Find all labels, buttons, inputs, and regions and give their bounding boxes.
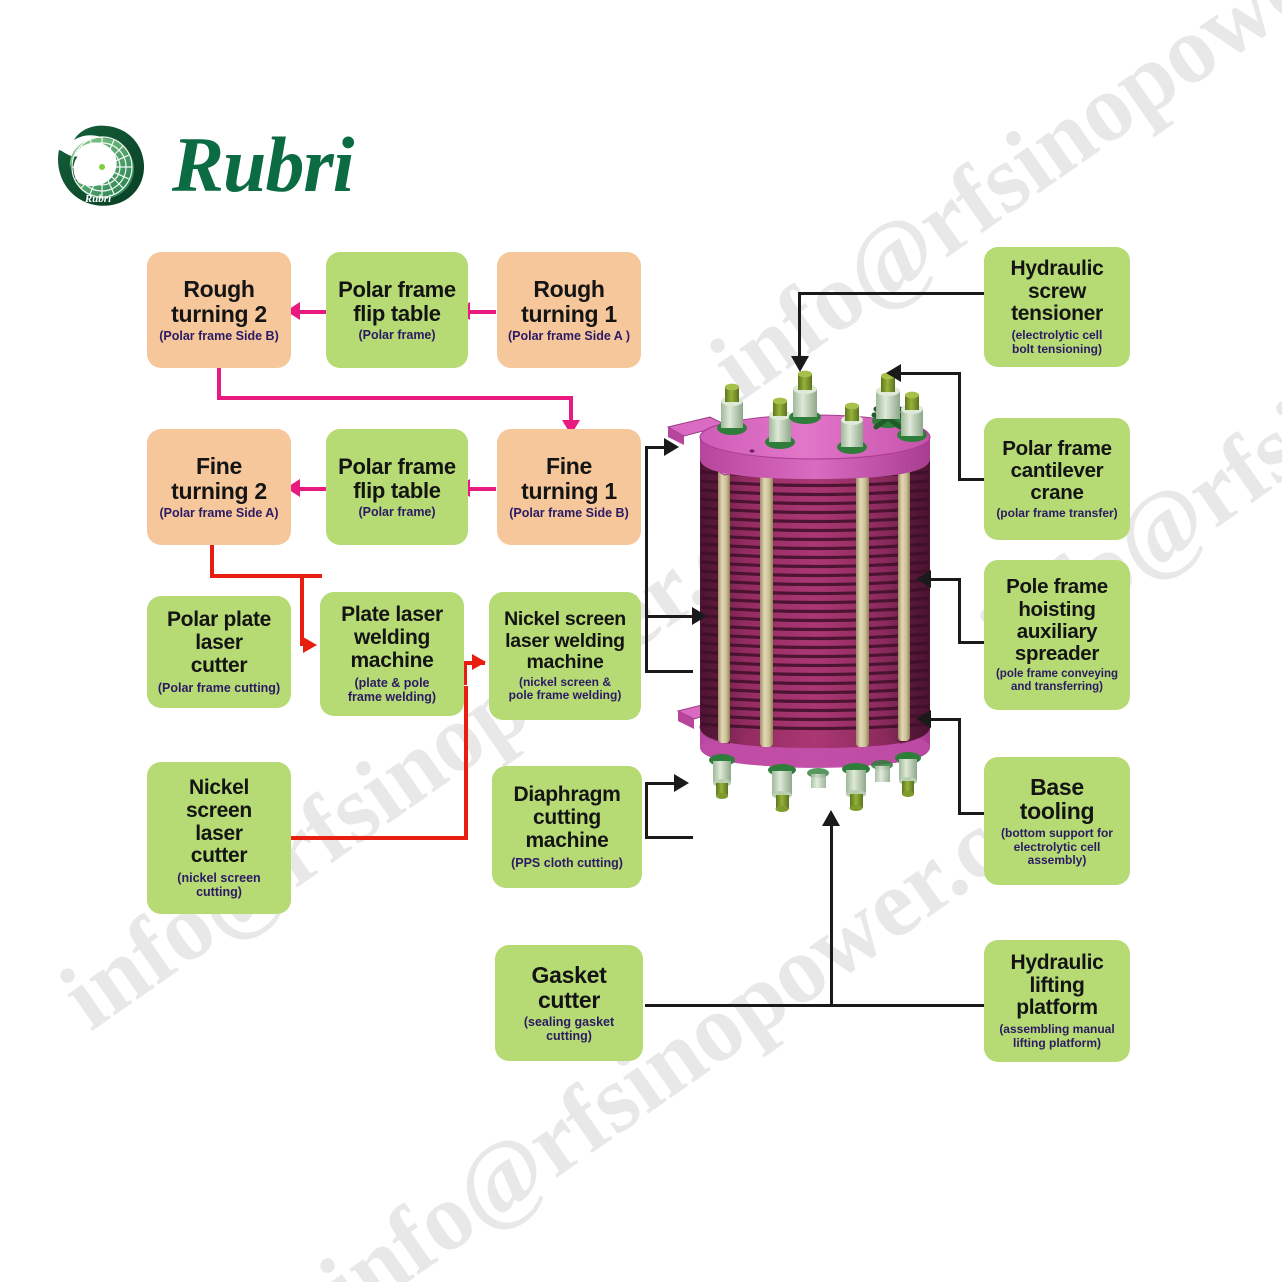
connector-base-top [930,718,960,721]
node-rough-turning-1[interactable]: Roughturning 1 (Polar frame Side A ) [497,252,641,368]
connector-nickelcut-up [464,686,468,838]
connector-ft2-across [210,574,322,578]
arrowhead-black-down [791,356,809,372]
connector-tensioner-down [798,292,801,360]
connector-spreader-out [958,641,986,644]
node-subtitle: (electrolytic cellbolt tensioning) [1012,329,1103,356]
polar-frame-plate-stack [700,455,930,748]
node-nickel-screen-laser-cutter[interactable]: Nickelscreenlasercutter (nickel screen c… [147,762,291,914]
node-subtitle: (plate & poleframe welding) [348,676,436,704]
node-title: Polar framecantilevercrane [1002,438,1112,504]
node-hydraulic-lifting-platform[interactable]: Hydraulicliftingplatform (assembling man… [984,940,1130,1062]
arrowhead-black-right [664,438,679,456]
node-title: Gasketcutter [532,963,607,1013]
node-subtitle: (nickel screen &pole frame welding) [509,676,622,703]
connector-nickelcut-across [290,836,468,840]
node-title: Fineturning 1 [521,454,617,504]
node-fine-turning-1[interactable]: Fineturning 1 (Polar frame Side B) [497,429,641,545]
connector-diaphragm-top [645,782,677,785]
connector-flip-to-rt2 [298,310,326,314]
connector-nickelweld-mid [645,615,695,618]
node-title: Roughturning 2 [171,277,267,327]
connector-lift-out [822,1004,986,1007]
arrowhead-black-right [692,607,707,625]
node-fine-turning-2[interactable]: Fineturning 2 (Polar frame Side A) [147,429,291,545]
arrowhead-black-up [822,810,840,826]
arrowhead-black-right [674,774,689,792]
node-subtitle: (Polar frame Side A) [159,506,278,520]
node-hydraulic-screw-tensioner[interactable]: Hydraulicscrewtensioner (electrolytic ce… [984,247,1130,367]
connector-flip-to-ft2 [298,487,326,491]
node-nickel-screen-laser-welding-machine[interactable]: Nickel screenlaser weldingmachine (nicke… [489,592,641,720]
node-title: Roughturning 1 [521,277,617,327]
connector-rt2-across [217,396,571,400]
connector-base-up [958,718,961,814]
node-title: Fineturning 2 [171,454,267,504]
arrowhead-red [472,654,486,670]
node-subtitle: (Polar frame Side A ) [508,329,630,343]
connector-nickelweld-to-cell [645,670,693,673]
connector-crane-out [958,478,986,481]
node-subtitle: (Polar frame) [358,328,435,342]
arrowhead-red [303,637,317,653]
connector-rt2-down [217,368,221,398]
node-subtitle: (nickel screen cutting) [153,871,285,899]
node-title: Diaphragmcuttingmachine [514,784,621,852]
connector-gasket-up [830,826,833,1006]
nautilus-spiral-logo-icon: Rubri [52,112,156,212]
node-subtitle: (pole frame conveyingand transferring) [996,668,1118,694]
node-title: Polar frameflip table [338,278,456,326]
node-title: Basetooling [1020,775,1095,825]
connector-gasket-out [645,1004,833,1007]
node-subtitle: (bottom support forelectrolytic cellasse… [1001,827,1113,867]
node-polar-frame-flip-table-2[interactable]: Polar frameflip table (Polar frame) [326,429,468,545]
connector-tensioner-out [798,292,984,295]
node-plate-laser-welding-machine[interactable]: Plate laserweldingmachine (plate & polef… [320,592,464,716]
node-polar-plate-laser-cutter[interactable]: Polar platelasercutter (Polar frame cutt… [147,596,291,708]
node-subtitle: (assembling manuallifting platform) [999,1023,1114,1050]
node-pole-frame-hoisting-auxiliary-spreader[interactable]: Pole framehoistingauxiliaryspreader (pol… [984,560,1130,710]
node-polar-frame-flip-table-1[interactable]: Polar frameflip table (Polar frame) [326,252,468,368]
connector-down-to-plate [300,574,304,646]
arrowhead-black-left [916,570,931,588]
node-title: Pole framehoistingauxiliaryspreader [1006,576,1108,665]
connector-base-out [958,812,986,815]
logo-inner-text: Rubri [84,193,112,205]
node-diaphragm-cutting-machine[interactable]: Diaphragmcuttingmachine (PPS cloth cutti… [492,766,642,888]
node-title: Hydraulicliftingplatform [1011,952,1104,1020]
node-title: Polar frameflip table [338,455,456,503]
connector-diaphragm-out [645,836,693,839]
connector-crane-up [958,372,961,480]
connector-into-ft1 [569,396,573,422]
connector-spreader-up [958,578,961,644]
node-subtitle: (PPS cloth cutting) [511,856,623,870]
node-gasket-cutter[interactable]: Gasketcutter (sealing gasket cutting) [495,945,643,1061]
node-base-tooling[interactable]: Basetooling (bottom support forelectroly… [984,757,1130,885]
connector-ft1-to-flip [468,487,496,491]
node-subtitle: (Polar frame Side B) [159,329,278,343]
brand-wordmark: Rubri [172,120,353,210]
node-subtitle: (polar frame transfer) [996,507,1117,520]
connector-nickelweld-riser-black [645,446,648,672]
node-subtitle: (Polar frame Side B) [509,506,628,520]
node-subtitle: (Polar frame) [358,505,435,519]
node-title: Nickelscreenlasercutter [186,777,252,868]
connector-spreader-top [930,578,960,581]
arrowhead-black-left [886,364,901,382]
node-subtitle: (Polar frame cutting) [158,681,280,695]
node-title: Plate laserweldingmachine [341,604,443,672]
connector-diaphragm-riser [645,782,648,838]
connector-ft2-down [210,544,214,576]
electrolytic-cell-stack-illustration [660,355,970,825]
node-title: Polar platelasercutter [167,609,271,677]
node-title: Nickel screenlaser weldingmachine [504,609,626,672]
node-polar-frame-cantilever-crane[interactable]: Polar framecantilevercrane (polar frame … [984,418,1130,540]
connector-crane-top [900,372,960,375]
brand-logo: Rubri Rubri [52,112,452,212]
connector-rt1-to-flip [468,310,496,314]
arrowhead-black-left [916,710,931,728]
node-title: Hydraulicscrewtensioner [1011,258,1104,326]
node-rough-turning-2[interactable]: Roughturning 2 (Polar frame Side B) [147,252,291,368]
node-subtitle: (sealing gasket cutting) [501,1015,637,1043]
